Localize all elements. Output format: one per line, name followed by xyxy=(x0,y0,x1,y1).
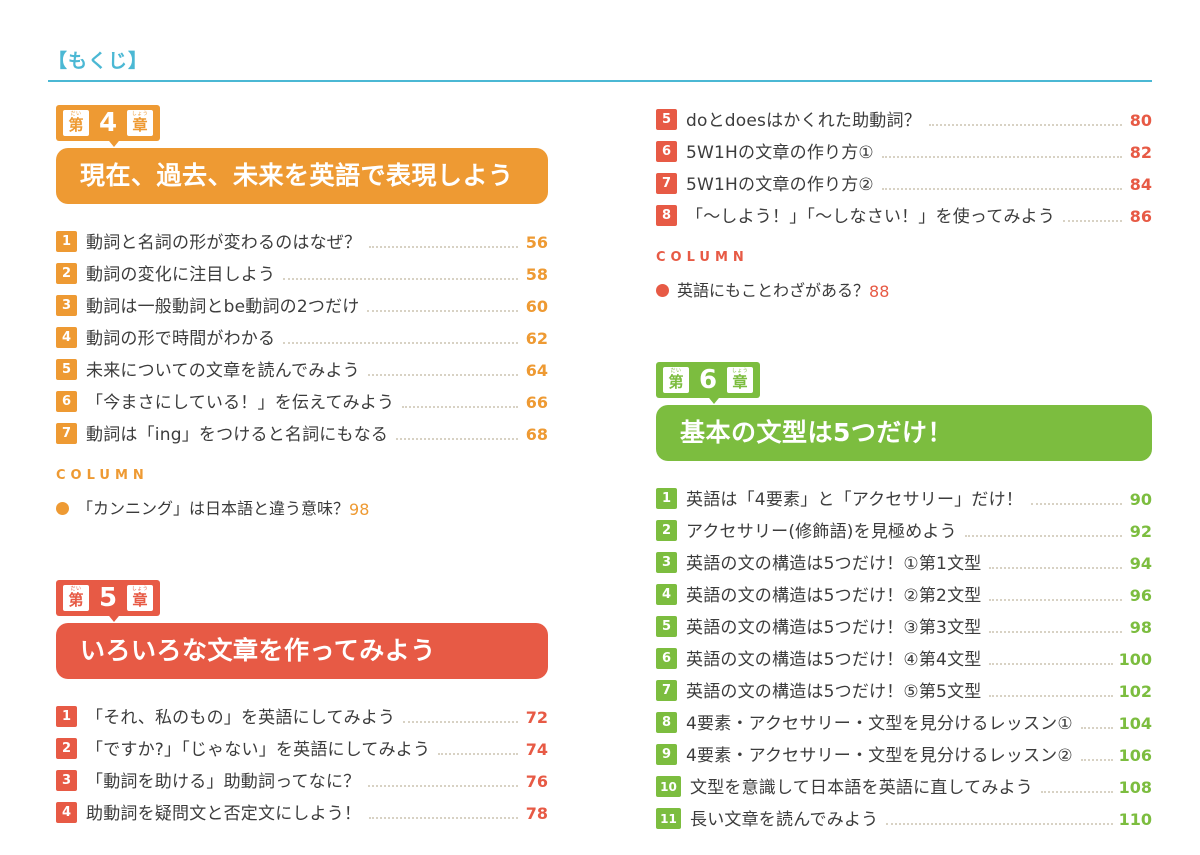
chapter-banner: いろいろな文章を作ってみよう xyxy=(56,623,548,679)
toc-entry-number: 8 xyxy=(656,712,677,733)
toc-entry-number: 2 xyxy=(56,738,77,759)
toc-entry[interactable]: 5doとdoesはかくれた助動詞？80 xyxy=(656,100,1152,132)
chapter-banner-title: 基本の文型は5つだけ！ xyxy=(680,420,953,446)
toc-entry-number: 11 xyxy=(656,808,681,829)
column-entry[interactable]: 英語にもことわざがある？88 xyxy=(656,273,1152,301)
chapter-spacer xyxy=(656,305,1152,357)
toc-entry-number: 5 xyxy=(656,109,677,130)
toc-leader-dots xyxy=(403,720,518,723)
toc-entry-label: 英語は「4要素」と「アクセサリー」だけ！ xyxy=(686,492,1023,511)
toc-entry-number: 4 xyxy=(56,802,77,823)
toc-entry-label: 「ですか?」「じゃない」を英語にしてみよう xyxy=(86,742,430,761)
toc-entry[interactable]: 1動詞と名詞の形が変わるのはなぜ？56 xyxy=(56,222,548,254)
toc-entry[interactable]: 1「それ、私のもの」を英語にしてみよう72 xyxy=(56,697,548,729)
toc-entry-label: 4要素・アクセサリー・文型を見分けるレッスン① xyxy=(686,716,1073,735)
toc-entry-label: 動詞の形で時間がわかる xyxy=(86,331,275,350)
chapter-suffix-char: 章 xyxy=(132,118,147,133)
chapter-block-chapter-5-continued: 5doとdoesはかくれた助動詞？8065W1Hの文章の作り方①8275W1Hの… xyxy=(656,100,1152,301)
toc-entry-page: 84 xyxy=(1128,175,1152,196)
chapter-entry-list: 1「それ、私のもの」を英語にしてみよう722「ですか?」「じゃない」を英語にして… xyxy=(56,697,548,825)
chapter-block-chapter-6: だい第6しょう章基本の文型は5つだけ！1英語は「4要素」と「アクセサリー」だけ！… xyxy=(656,357,1152,831)
chapter-entry-list: 1動詞と名詞の形が変わるのはなぜ？562動詞の変化に注目しよう583動詞は一般動… xyxy=(56,222,548,446)
chapter-number: 6 xyxy=(694,367,722,393)
toc-leader-dots xyxy=(368,373,518,376)
toc-entry-page: 68 xyxy=(524,425,548,446)
toc-entry-number: 9 xyxy=(656,744,677,765)
toc-entry-page: 58 xyxy=(524,265,548,286)
toc-entry-label: 動詞は「ing」をつけると名詞にもなる xyxy=(86,427,388,446)
toc-entry[interactable]: 3「動詞を助ける」助動詞ってなに？76 xyxy=(56,761,548,793)
toc-leader-dots xyxy=(283,277,518,280)
toc-column-right: 5doとdoesはかくれた助動詞？8065W1Hの文章の作り方①8275W1Hの… xyxy=(600,100,1200,835)
toc-entry[interactable]: 4動詞の形で時間がわかる62 xyxy=(56,318,548,350)
column-entry-page: 98 xyxy=(349,500,369,519)
toc-entry-number: 4 xyxy=(56,327,77,348)
toc-entry-label: 5W1Hの文章の作り方② xyxy=(686,177,874,196)
chapter-badge-tail-icon xyxy=(105,611,123,622)
column-section-heading: COLUMN xyxy=(56,468,548,483)
toc-leader-dots xyxy=(929,123,1122,126)
chapter-number: 4 xyxy=(94,110,122,136)
toc-entry-label: アクセサリー(修飾語)を見極めよう xyxy=(686,524,957,543)
toc-entry-label: 長い文章を読んでみよう xyxy=(690,812,878,831)
toc-entry-number: 3 xyxy=(56,770,77,791)
toc-entry[interactable]: 84要素・アクセサリー・文型を見分けるレッスン①104 xyxy=(656,703,1152,735)
toc-entry-label: 英語の文の構造は5つだけ！④第4文型 xyxy=(686,652,981,671)
toc-entry[interactable]: 7英語の文の構造は5つだけ！⑤第5文型102 xyxy=(656,671,1152,703)
chapter-prefix-kanji: だい第 xyxy=(63,585,89,611)
chapter-block-chapter-4: だい第4しょう章現在、過去、未来を英語で表現しよう1動詞と名詞の形が変わるのはな… xyxy=(56,100,548,519)
toc-entry[interactable]: 3動詞は一般動詞とbe動詞の2つだけ60 xyxy=(56,286,548,318)
toc-entry-page: 60 xyxy=(524,297,548,318)
toc-entry-label: 英語の文の構造は5つだけ！①第1文型 xyxy=(686,556,981,575)
chapter-suffix-kanji: しょう章 xyxy=(127,110,153,136)
toc-leader-dots xyxy=(989,598,1122,601)
toc-entry[interactable]: 2「ですか?」「じゃない」を英語にしてみよう74 xyxy=(56,729,548,761)
header-divider xyxy=(48,80,1152,82)
toc-entry[interactable]: 1英語は「4要素」と「アクセサリー」だけ！90 xyxy=(656,479,1152,511)
toc-entry[interactable]: 2動詞の変化に注目しよう58 xyxy=(56,254,548,286)
toc-entry-label: 「動詞を助ける」助動詞ってなに？ xyxy=(86,774,360,793)
toc-entry-label: 動詞の変化に注目しよう xyxy=(86,267,275,286)
toc-leader-dots xyxy=(989,694,1112,697)
toc-entry-page: 96 xyxy=(1128,586,1152,607)
toc-entry-number: 1 xyxy=(656,488,677,509)
toc-entry[interactable]: 4助動詞を疑問文と否定文にしよう！78 xyxy=(56,793,548,825)
toc-entry-page: 62 xyxy=(524,329,548,350)
toc-entry-page: 94 xyxy=(1128,554,1152,575)
chapter-banner-title: いろいろな文章を作ってみよう xyxy=(80,638,436,664)
chapter-entry-list: 5doとdoesはかくれた助動詞？8065W1Hの文章の作り方①8275W1Hの… xyxy=(656,100,1152,228)
toc-entry-number: 2 xyxy=(56,263,77,284)
chapter-suffix-char: 章 xyxy=(732,375,747,390)
toc-entry[interactable]: 94要素・アクセサリー・文型を見分けるレッスン②106 xyxy=(656,735,1152,767)
toc-entry-page: 98 xyxy=(1128,618,1152,639)
toc-entry-number: 3 xyxy=(656,552,677,573)
toc-entry-label: doとdoesはかくれた助動詞？ xyxy=(686,113,921,132)
toc-entry[interactable]: 2アクセサリー(修飾語)を見極めよう92 xyxy=(656,511,1152,543)
column-entry-label: 「カンニング」は日本語と違う意味？ xyxy=(77,495,349,519)
toc-entry-label: 助動詞を疑問文と否定文にしよう！ xyxy=(86,806,361,825)
toc-entry-number: 4 xyxy=(656,584,677,605)
chapter-number: 5 xyxy=(94,585,122,611)
toc-leader-dots xyxy=(1063,219,1122,222)
toc-entry-number: 6 xyxy=(656,141,677,162)
chapter-badge-wrap: だい第6しょう章 xyxy=(656,357,1152,403)
chapter-badge-wrap: だい第5しょう章 xyxy=(56,575,548,621)
toc-leader-dots xyxy=(369,816,518,819)
toc-leader-dots xyxy=(396,437,518,440)
toc-entry-page: 92 xyxy=(1128,522,1152,543)
toc-entry-number: 10 xyxy=(656,776,681,797)
toc-entry-page: 110 xyxy=(1119,810,1152,831)
toc-entry-number: 1 xyxy=(56,231,77,252)
column-entry-label: 英語にもことわざがある？ xyxy=(677,277,869,301)
toc-leader-dots xyxy=(989,630,1122,633)
chapter-banner-title: 現在、過去、未来を英語で表現しよう xyxy=(80,163,514,189)
toc-leader-dots xyxy=(989,662,1112,665)
toc-entry-label: 英語の文の構造は5つだけ！③第3文型 xyxy=(686,620,981,639)
toc-entry-label: 動詞と名詞の形が変わるのはなぜ？ xyxy=(86,235,361,254)
toc-entry-label: 5W1Hの文章の作り方① xyxy=(686,145,874,164)
column-section-heading: COLUMN xyxy=(656,250,1152,265)
chapter-badge-tail-icon xyxy=(105,136,123,147)
toc-entry[interactable]: 6英語の文の構造は5つだけ！④第4文型100 xyxy=(656,639,1152,671)
toc-entry-label: 文型を意識して日本語を英語に直してみよう xyxy=(690,780,1033,799)
toc-entry-number: 7 xyxy=(656,680,677,701)
toc-entry-page: 90 xyxy=(1128,490,1152,511)
toc-entry-page: 74 xyxy=(524,740,548,761)
toc-entry[interactable]: 4英語の文の構造は5つだけ！②第2文型96 xyxy=(656,575,1152,607)
chapter-suffix-char: 章 xyxy=(132,593,147,608)
toc-entry-number: 6 xyxy=(656,648,677,669)
column-entry-page: 88 xyxy=(869,282,889,301)
column-entry[interactable]: 「カンニング」は日本語と違う意味？98 xyxy=(56,491,548,519)
toc-entry-number: 5 xyxy=(656,616,677,637)
toc-entry-page: 78 xyxy=(524,804,548,825)
toc-entry-label: 「〜しよう！」「〜しなさい！」を使ってみよう xyxy=(686,209,1055,228)
toc-entry-label: 「それ、私のもの」を英語にしてみよう xyxy=(86,710,395,729)
toc-entry-label: 4要素・アクセサリー・文型を見分けるレッスン② xyxy=(686,748,1073,767)
toc-entry-number: 7 xyxy=(56,423,77,444)
chapter-badge-wrap: だい第4しょう章 xyxy=(56,100,548,146)
toc-entry-number: 5 xyxy=(56,359,77,380)
toc-entry-number: 3 xyxy=(56,295,77,316)
chapter-spacer xyxy=(56,523,548,575)
toc-leader-dots xyxy=(402,405,518,408)
toc-entry-page: 102 xyxy=(1119,682,1152,703)
toc-entry-page: 86 xyxy=(1128,207,1152,228)
chapter-prefix-char: 第 xyxy=(668,375,683,390)
toc-leader-dots xyxy=(283,341,518,344)
chapter-banner: 基本の文型は5つだけ！ xyxy=(656,405,1152,461)
toc-entry-page: 100 xyxy=(1119,650,1152,671)
toc-entry[interactable]: 11長い文章を読んでみよう110 xyxy=(656,799,1152,831)
toc-column-left: だい第4しょう章現在、過去、未来を英語で表現しよう1動詞と名詞の形が変わるのはな… xyxy=(0,100,600,835)
toc-entry-number: 2 xyxy=(656,520,677,541)
toc-entry[interactable]: 7動詞は「ing」をつけると名詞にもなる68 xyxy=(56,414,548,446)
chapter-prefix-kanji: だい第 xyxy=(663,367,689,393)
toc-leader-dots xyxy=(886,822,1112,825)
toc-entry-page: 82 xyxy=(1128,143,1152,164)
bullet-dot-icon xyxy=(56,502,69,515)
toc-entry[interactable]: 3英語の文の構造は5つだけ！①第1文型94 xyxy=(656,543,1152,575)
toc-leader-dots xyxy=(369,245,518,248)
toc-leader-dots xyxy=(368,784,518,787)
toc-entry-number: 1 xyxy=(56,706,77,727)
toc-leader-dots xyxy=(367,309,518,312)
toc-entry[interactable]: 65W1Hの文章の作り方①82 xyxy=(656,132,1152,164)
toc-leader-dots xyxy=(1081,758,1113,761)
toc-entry[interactable]: 8「〜しよう！」「〜しなさい！」を使ってみよう86 xyxy=(656,196,1152,228)
chapter-prefix-char: 第 xyxy=(68,593,83,608)
toc-entry-number: 8 xyxy=(656,205,677,226)
toc-entry-label: 「今まさにしている！」を伝えてみよう xyxy=(86,395,394,414)
toc-leader-dots xyxy=(438,752,518,755)
toc-entry-page: 104 xyxy=(1119,714,1152,735)
toc-entry[interactable]: 75W1Hの文章の作り方②84 xyxy=(656,164,1152,196)
toc-entry-page: 72 xyxy=(524,708,548,729)
toc-entry[interactable]: 5未来についての文章を読んでみよう64 xyxy=(56,350,548,382)
toc-leader-dots xyxy=(1081,726,1113,729)
toc-leader-dots xyxy=(1031,502,1122,505)
chapter-suffix-kanji: しょう章 xyxy=(127,585,153,611)
toc-leader-dots xyxy=(965,534,1122,537)
page-title: 【もくじ】 xyxy=(48,52,1152,80)
toc-entry[interactable]: 6「今まさにしている！」を伝えてみよう66 xyxy=(56,382,548,414)
bullet-dot-icon xyxy=(656,284,669,297)
toc-leader-dots xyxy=(989,566,1122,569)
toc-entry[interactable]: 5英語の文の構造は5つだけ！③第3文型98 xyxy=(656,607,1152,639)
page-header: 【もくじ】 xyxy=(48,52,1152,82)
toc-entry-label: 英語の文の構造は5つだけ！②第2文型 xyxy=(686,588,981,607)
column-section: COLUMN英語にもことわざがある？88 xyxy=(656,250,1152,301)
toc-entry-page: 76 xyxy=(524,772,548,793)
chapter-prefix-kanji: だい第 xyxy=(63,110,89,136)
chapter-suffix-kanji: しょう章 xyxy=(727,367,753,393)
toc-entry-number: 7 xyxy=(656,173,677,194)
toc-leader-dots xyxy=(882,155,1122,158)
toc-leader-dots xyxy=(882,187,1122,190)
toc-entry-page: 64 xyxy=(524,361,548,382)
column-section: COLUMN「カンニング」は日本語と違う意味？98 xyxy=(56,468,548,519)
toc-entry-label: 英語の文の構造は5つだけ！⑤第5文型 xyxy=(686,684,981,703)
toc-entry-number: 6 xyxy=(56,391,77,412)
chapter-prefix-char: 第 xyxy=(68,118,83,133)
chapter-badge-tail-icon xyxy=(705,393,723,404)
toc-entry-label: 未来についての文章を読んでみよう xyxy=(86,363,360,382)
toc-entry-page: 66 xyxy=(524,393,548,414)
chapter-entry-list: 1英語は「4要素」と「アクセサリー」だけ！902アクセサリー(修飾語)を見極めよ… xyxy=(656,479,1152,831)
toc-entry[interactable]: 10文型を意識して日本語を英語に直してみよう108 xyxy=(656,767,1152,799)
toc-columns: だい第4しょう章現在、過去、未来を英語で表現しよう1動詞と名詞の形が変わるのはな… xyxy=(0,100,1200,835)
toc-entry-label: 動詞は一般動詞とbe動詞の2つだけ xyxy=(86,299,359,318)
toc-entry-page: 56 xyxy=(524,233,548,254)
toc-leader-dots xyxy=(1041,790,1113,793)
chapter-block-chapter-5: だい第5しょう章いろいろな文章を作ってみよう1「それ、私のもの」を英語にしてみよ… xyxy=(56,575,548,825)
toc-entry-page: 106 xyxy=(1119,746,1152,767)
toc-entry-page: 80 xyxy=(1128,111,1152,132)
toc-entry-page: 108 xyxy=(1119,778,1152,799)
chapter-banner: 現在、過去、未来を英語で表現しよう xyxy=(56,148,548,204)
